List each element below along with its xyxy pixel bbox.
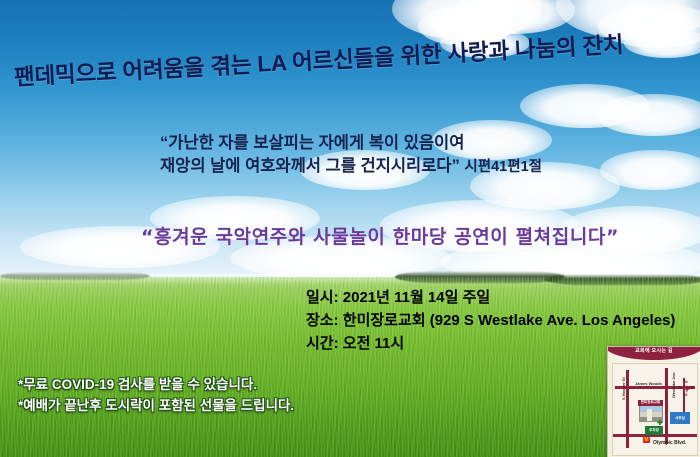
compass-west-label: W bbox=[678, 386, 681, 390]
directions-map-widget: 교회에 오시는 길 한미장로교회 사무실 주차장 ✚ M James Woods… bbox=[607, 346, 700, 457]
scripture-quote: “가난한 자를 보살피는 자에게 복이 있음이여 재앙의 날에 여호와께서 그를… bbox=[160, 132, 542, 179]
map-poi-office: 사무실 bbox=[670, 412, 690, 424]
scripture-line-2-row: 재앙의 날에 여호와께서 그를 건지시리로다” 시편41편1절 bbox=[160, 155, 542, 178]
cloud-shape bbox=[600, 150, 700, 190]
cloud-shape bbox=[455, 0, 575, 34]
footnotes: *무료 COVID-19 검사를 받을 수 있습니다. *예배가 끝난후 도시락… bbox=[18, 375, 294, 417]
compass-rose-icon: N S W E bbox=[678, 381, 695, 398]
compass-north-label: N bbox=[685, 380, 688, 384]
footnote-gift-after-service: *예배가 끝난후 도시락이 포함된 선물을 드립니다. bbox=[18, 396, 294, 417]
map-street-label-james-woods: James Woods bbox=[635, 381, 662, 386]
cross-icon: ✚ bbox=[657, 421, 663, 427]
scripture-reference: 시편41편1절 bbox=[464, 159, 542, 175]
map-street-label-westlake: Westlake Ave. bbox=[671, 371, 676, 398]
map-poi-parking: 주차장 bbox=[645, 426, 663, 435]
scripture-line-1: “가난한 자를 보살피는 자에게 복이 있음이여 bbox=[160, 132, 542, 155]
event-date: 일시: 2021년 11월 14일 주일 bbox=[306, 287, 675, 310]
map-label-church: 한미장로교회 bbox=[638, 400, 663, 406]
cloud-shape bbox=[520, 84, 650, 128]
compass-east-label: E bbox=[691, 386, 693, 390]
map-street-label-olympic: Olympic Blvd. bbox=[653, 440, 686, 446]
event-place: 장소: 한미장로교회 (929 S Westlake Ave. Los Ange… bbox=[306, 310, 675, 333]
map-body: 한미장로교회 사무실 주차장 ✚ M James Woods Olympic B… bbox=[612, 363, 698, 456]
road-westlake-ave bbox=[665, 368, 668, 444]
cloud-shape bbox=[596, 94, 700, 136]
mcdonalds-icon: M bbox=[643, 437, 650, 443]
road-hoover-st bbox=[626, 370, 629, 448]
compass-star bbox=[683, 385, 691, 393]
compass-south-label: S bbox=[685, 393, 687, 397]
poster-canvas: 팬데믹으로 어려움을 겪는 LA 어르신들을 위한 사랑과 나눔의 잔치 “가난… bbox=[0, 0, 700, 457]
map-street-label-hoover: S Hoover St bbox=[621, 377, 626, 400]
scripture-line-2: 재앙의 날에 여호와께서 그를 건지시리로다” bbox=[160, 157, 460, 175]
footnote-covid-testing: *무료 COVID-19 검사를 받을 수 있습니다. bbox=[18, 375, 294, 396]
performance-announcement: “흥겨운 국악연주와 사물놀이 한마당 공연이 펼쳐집니다” bbox=[141, 222, 619, 249]
map-banner-title: 교회에 오시는 길 bbox=[607, 346, 700, 360]
